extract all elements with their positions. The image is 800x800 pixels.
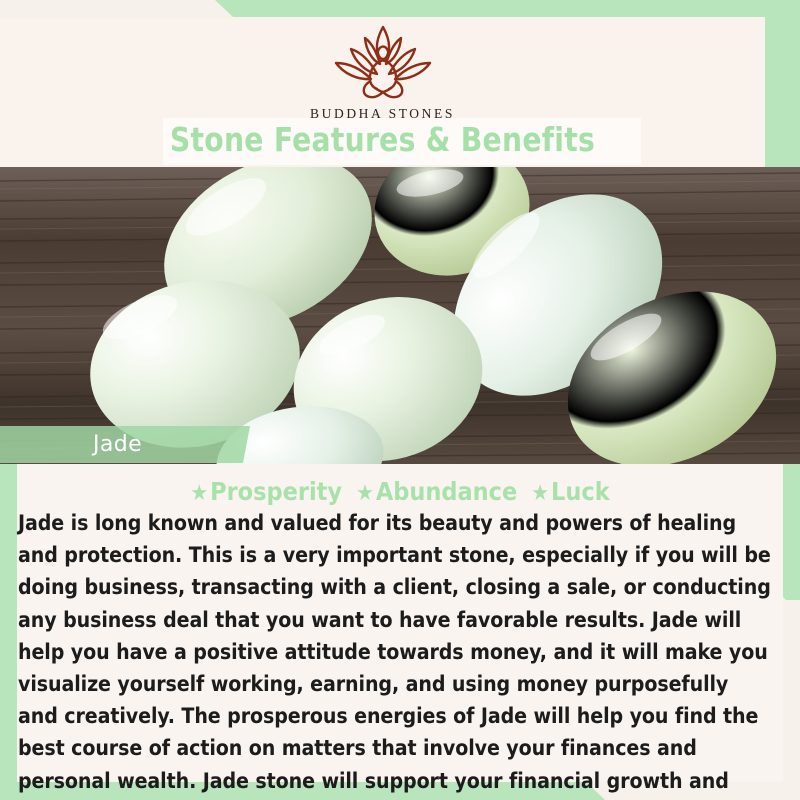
benefit-abundance: Abundance — [376, 477, 517, 506]
star-icon: ★ — [190, 481, 208, 506]
lotus-meditation-icon — [319, 22, 447, 104]
benefit-luck: Luck — [551, 477, 610, 506]
benefit-prosperity: Prosperity — [210, 477, 342, 506]
hero-photo-jade-stones — [0, 167, 800, 464]
benefits-row: ★Prosperity★Abundance★Luck — [17, 477, 783, 509]
body-description: Jade is long known and valued for its be… — [18, 508, 774, 800]
photo-caption-label: Jade — [93, 428, 142, 462]
poster-canvas: BUDDHA STONES Stone Features & Benefits — [0, 0, 800, 800]
star-icon: ★ — [356, 481, 374, 506]
star-icon: ★ — [531, 481, 549, 506]
jade-stones-illustration — [0, 167, 800, 464]
brand-logo: BUDDHA STONES — [0, 22, 765, 122]
page-title: Stone Features & Benefits — [19, 118, 746, 162]
